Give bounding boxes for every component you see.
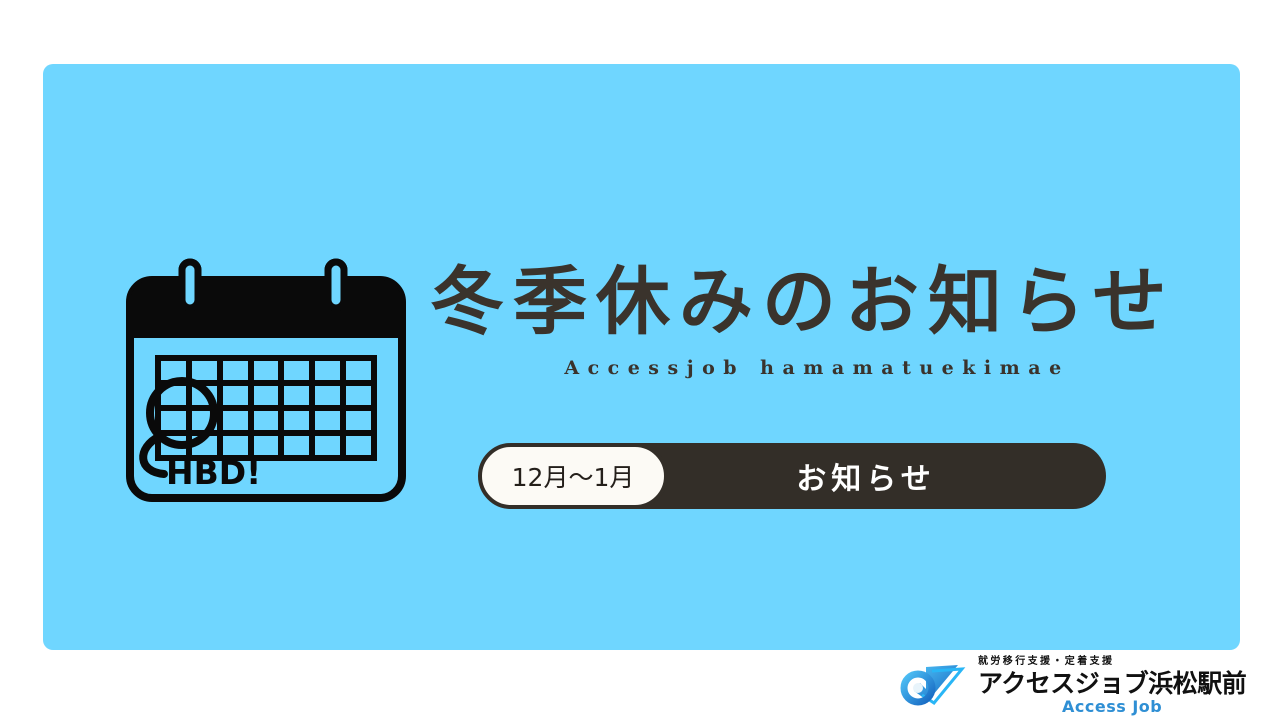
badge-period-label: 12月〜1月 [512, 458, 635, 494]
calendar-note-label: HBD! [166, 453, 261, 492]
banner-canvas: HBD! 冬季休みのお知らせ Accessjob hamamatuekimae … [0, 0, 1280, 720]
page-subtitle: Accessjob hamamatuekimae [492, 357, 1142, 379]
logo-company-name: アクセスジョブ浜松駅前 [978, 670, 1246, 698]
badge-category-label: お知らせ [736, 454, 935, 498]
page-title: 冬季休みのお知らせ [430, 265, 1220, 339]
logo-english-name: Access Job [978, 699, 1246, 715]
logo-kicker-text: 就労移行支援・定着支援 [978, 657, 1246, 667]
calendar-icon: HBD! [120, 258, 420, 508]
status-badge: お知らせ 12月〜1月 [478, 443, 1106, 509]
headline-block: 冬季休みのお知らせ Accessjob hamamatuekimae [430, 265, 1220, 379]
company-logo: 就労移行支援・定着支援 アクセスジョブ浜松駅前 Access Job [898, 655, 1242, 717]
accessjob-swoosh-icon [898, 661, 972, 711]
badge-period-pill: 12月〜1月 [478, 443, 668, 509]
